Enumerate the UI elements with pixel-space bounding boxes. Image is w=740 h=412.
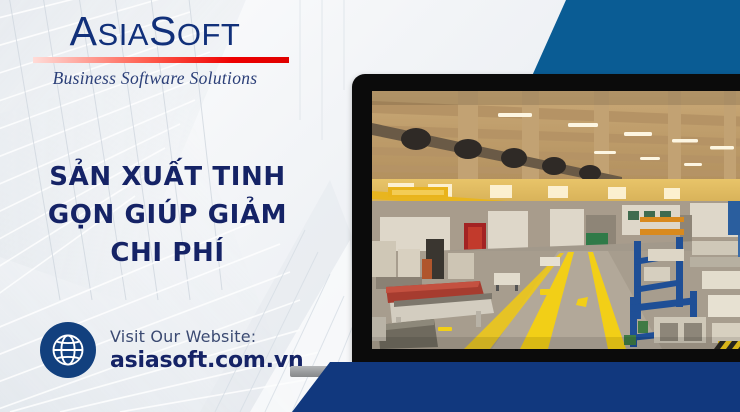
promotional-banner: ASIASOFT Business Software Solutions SẢN… <box>0 0 740 412</box>
brand-logo-text: ASIASOFT <box>0 8 310 58</box>
page-title: SẢN XUẤT TINH GỌN GIÚP GIẢM CHI PHÍ <box>0 158 335 272</box>
laptop-base-notch <box>470 366 538 375</box>
globe-icon <box>40 322 96 378</box>
brand-tagline: Business Software Solutions <box>0 68 310 89</box>
website-callout[interactable]: Visit Our Website: asiasoft.com.vn <box>40 322 303 378</box>
logo-letters-oft: OFT <box>177 17 241 52</box>
logo-red-rule <box>33 57 289 63</box>
laptop-mockup <box>352 74 740 366</box>
headline-line-1: SẢN XUẤT TINH <box>0 158 335 196</box>
laptop-screen <box>372 91 740 349</box>
website-url[interactable]: asiasoft.com.vn <box>110 350 303 372</box>
logo-letter-a: A <box>70 8 98 54</box>
logo-letters-sia: SIA <box>98 17 149 52</box>
brand-logo: ASIASOFT <box>0 8 310 58</box>
website-text-block: Visit Our Website: asiasoft.com.vn <box>110 329 303 372</box>
factory-photo <box>372 91 740 349</box>
website-prefix-label: Visit Our Website: <box>110 329 303 345</box>
headline-line-2: GỌN GIÚP GIẢM <box>0 196 335 234</box>
headline-line-3: CHI PHÍ <box>0 234 335 272</box>
logo-letter-s: S <box>149 8 177 54</box>
